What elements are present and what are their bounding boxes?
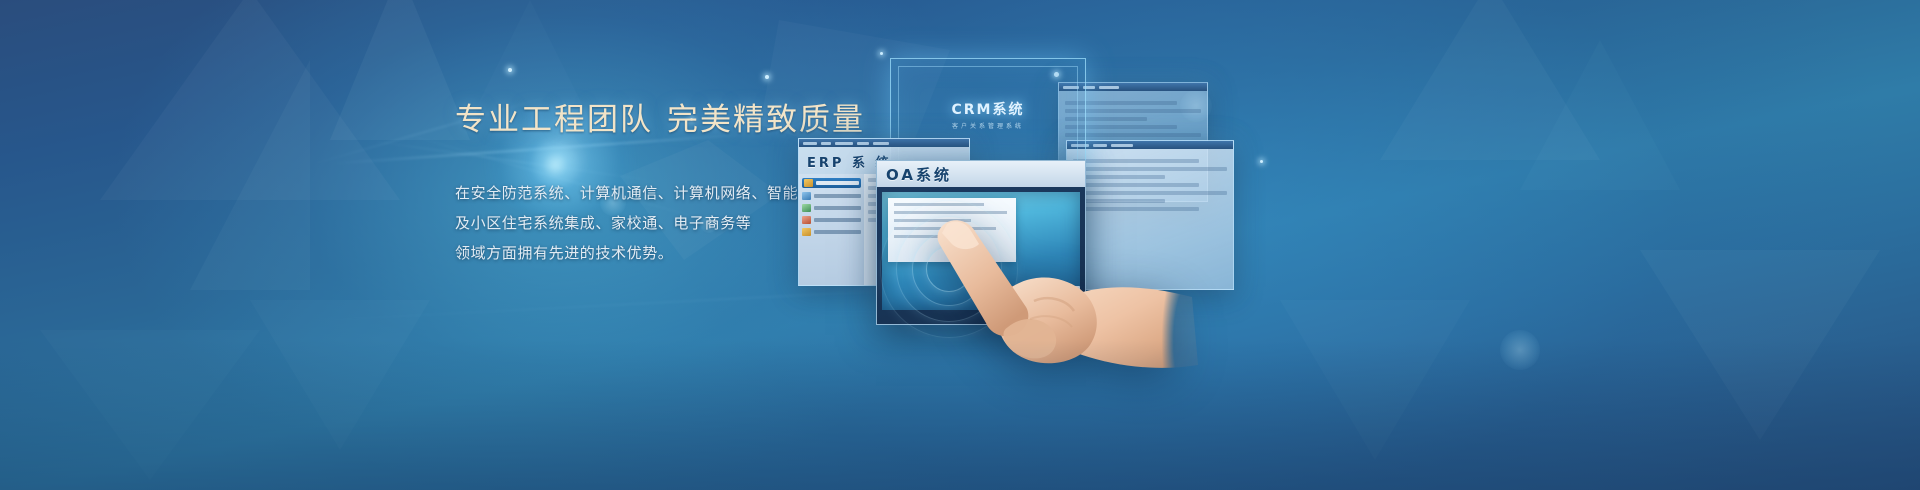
content-row xyxy=(1073,175,1165,179)
crm-window-subtitle: 客户关系管理系统 xyxy=(891,121,1085,130)
titlebar-segment xyxy=(857,142,869,145)
content-row xyxy=(1073,183,1199,187)
oa-window-title: OA系统 xyxy=(886,164,952,185)
titlebar-segment xyxy=(1093,144,1107,147)
polygon-shape-icon xyxy=(330,0,470,140)
erp-sidebar-item[interactable] xyxy=(802,178,861,188)
polygon-shape-icon xyxy=(1280,300,1470,460)
grid-icon xyxy=(802,228,811,236)
crm-window-title: CRM系统 xyxy=(891,99,1085,119)
content-row xyxy=(1073,207,1199,211)
settings-icon xyxy=(802,216,811,224)
banner-subcopy: 在安全防范系统、计算机通信、计算机网络、智能大厦 及小区住宅系统集成、家校通、电… xyxy=(455,178,795,268)
erp-sidebar-item[interactable] xyxy=(802,192,861,200)
sidebar-item-label xyxy=(814,218,861,222)
content-row xyxy=(1073,167,1227,171)
sidebar-item-label xyxy=(816,181,859,185)
titlebar-segment xyxy=(803,142,817,145)
erp-sidebar-item[interactable] xyxy=(802,204,861,212)
polygon-shape-icon xyxy=(190,60,310,290)
report-icon xyxy=(802,204,811,212)
subcopy-line-1: 在安全防范系统、计算机通信、计算机网络、智能大厦 xyxy=(455,178,795,208)
titlebar-segment xyxy=(821,142,831,145)
content-row xyxy=(1073,191,1227,195)
sidebar-item-label xyxy=(814,206,861,210)
banner-text-block: 专业工程团队完美精致质量 在安全防范系统、计算机通信、计算机网络、智能大厦 及小… xyxy=(455,100,795,268)
polygon-shape-icon xyxy=(1640,250,1880,440)
subcopy-line-3: 领域方面拥有先进的技术优势。 xyxy=(455,238,795,268)
erp-sidebar-item[interactable] xyxy=(802,216,861,224)
window-titlebar xyxy=(799,139,969,147)
titlebar-segment xyxy=(835,142,853,145)
titlebar-segment xyxy=(1099,86,1119,89)
hero-banner: 专业工程团队完美精致质量 在安全防范系统、计算机通信、计算机网络、智能大厦 及小… xyxy=(0,0,1920,490)
page-title: 专业工程团队完美精致质量 xyxy=(455,100,795,140)
database-icon xyxy=(802,192,811,200)
erp-sidebar[interactable] xyxy=(799,174,864,286)
sidebar-item-label xyxy=(814,230,861,234)
hand-pointer-icon xyxy=(930,215,1200,395)
titlebar-segment xyxy=(873,142,889,145)
headline-part-1: 专业工程团队 xyxy=(455,102,653,138)
oa-window-titlebar: OA系统 xyxy=(877,161,1085,187)
window-content xyxy=(1067,149,1233,211)
content-row xyxy=(1073,159,1199,163)
window-titlebar xyxy=(1067,141,1233,149)
erp-sidebar-item[interactable] xyxy=(802,228,861,236)
titlebar-segment xyxy=(1111,144,1133,147)
folder-icon xyxy=(804,179,813,187)
sidebar-item-label xyxy=(814,194,861,198)
subcopy-line-2: 及小区住宅系统集成、家校通、电子商务等 xyxy=(455,208,795,238)
polygon-shape-icon xyxy=(40,330,260,480)
sparkle-dot-icon xyxy=(508,68,512,72)
content-row xyxy=(1073,199,1165,203)
sparkle-dot-icon xyxy=(765,75,769,79)
sparkle-dot-icon xyxy=(1500,330,1540,370)
polygon-shape-icon xyxy=(1520,40,1680,190)
